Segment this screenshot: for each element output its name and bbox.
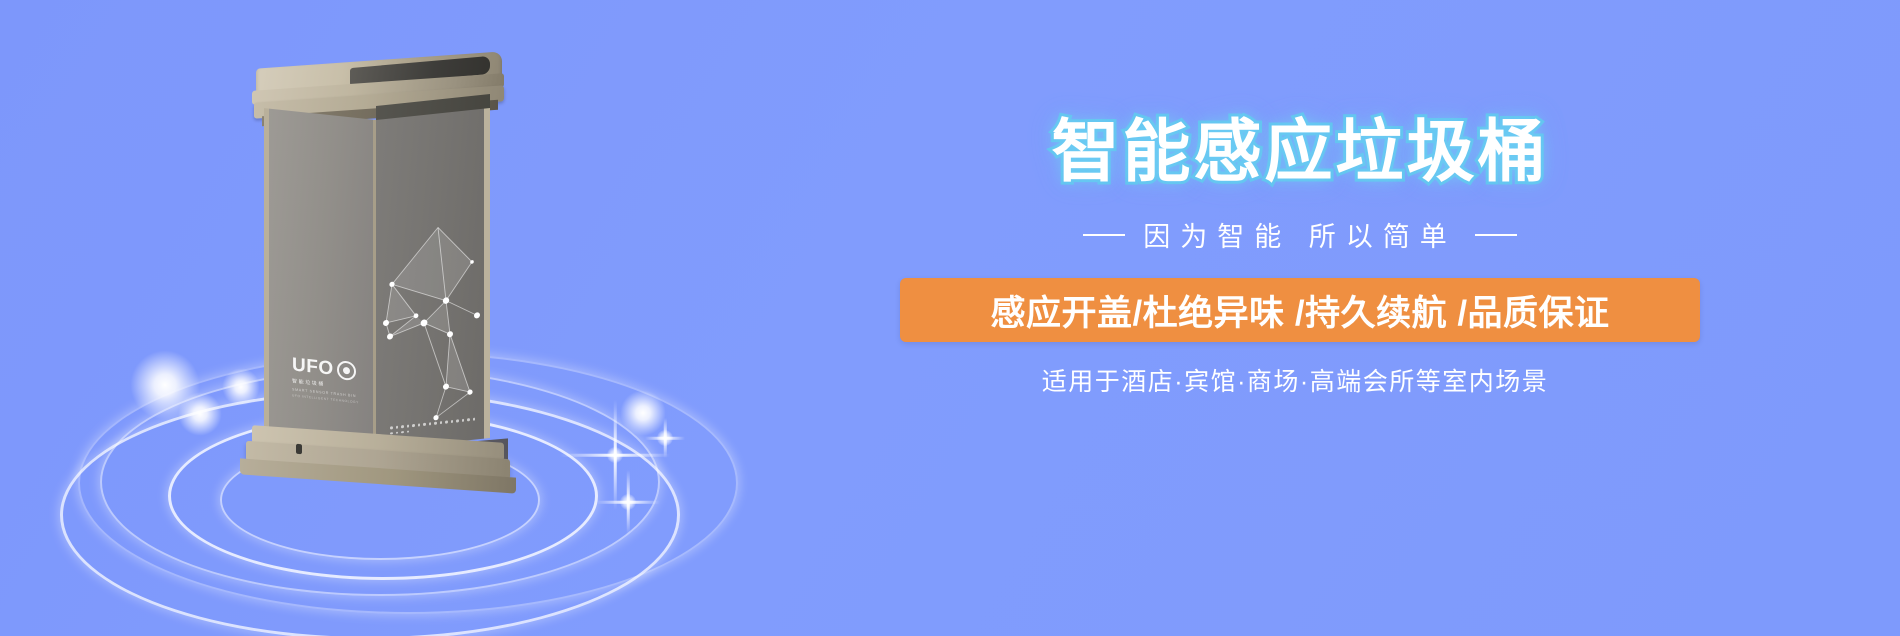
feature-badge-text: 感应开盖/杜绝异味 /持久续航 /品质保证 <box>990 285 1609 336</box>
rule-left <box>1083 234 1125 236</box>
product-stage: UFO 智能垃圾桶 SMART SENSOR TRASH BIN UFO INT… <box>0 0 820 636</box>
rule-right <box>1475 234 1517 236</box>
glow-dot <box>178 392 222 436</box>
product-trash-bin: UFO 智能垃圾桶 SMART SENSOR TRASH BIN UFO INT… <box>240 60 520 480</box>
bin-base-latch <box>296 444 302 454</box>
copy-block: 智能感应垃圾桶 因为智能 所以简单 感应开盖/杜绝异味 /持久续航 /品质保证 … <box>880 0 1900 636</box>
subheadline: 因为智能 所以简单 <box>880 215 1720 254</box>
usage-scene-line: 适用于酒店·宾馆·商场·高端会所等室内场景 <box>880 362 1710 398</box>
headline: 智能感应垃圾桶 <box>880 118 1720 186</box>
sparkle-icon <box>645 418 685 458</box>
feature-badge: 感应开盖/杜绝异味 /持久续航 /品质保证 <box>900 278 1700 342</box>
subheadline-text: 因为智能 所以简单 <box>1143 215 1457 254</box>
logo-wordmark: UFO <box>292 355 334 378</box>
sparkle-icon <box>596 470 660 534</box>
promo-banner: UFO 智能垃圾桶 SMART SENSOR TRASH BIN UFO INT… <box>0 0 1900 636</box>
logo-circle-icon <box>337 360 356 381</box>
